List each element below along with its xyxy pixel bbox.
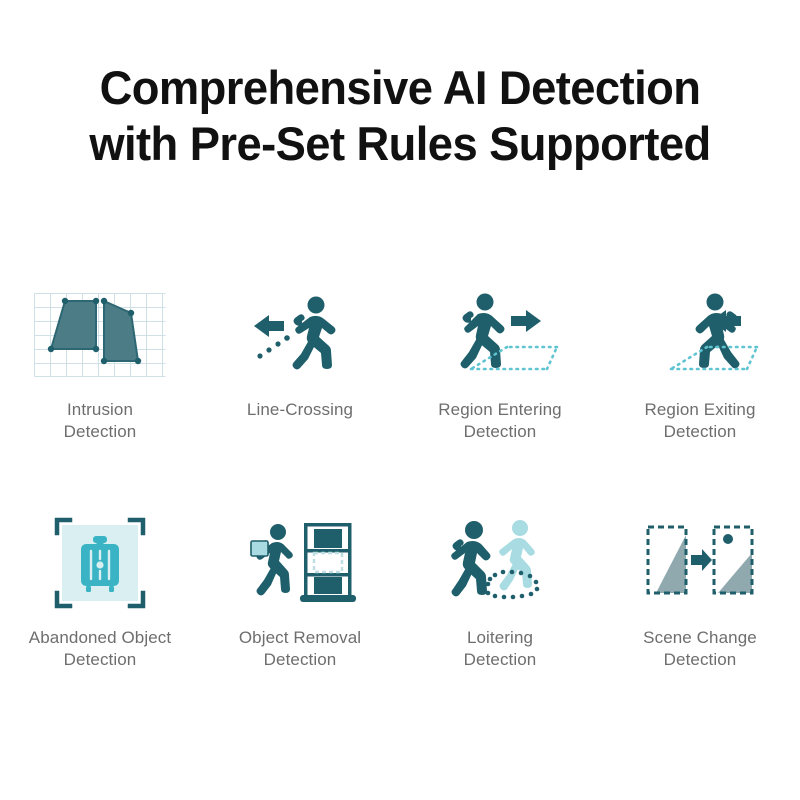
feature-item-scene-change-detection[interactable]: Scene Change Detection	[600, 517, 800, 671]
object-removal-shelf-icon	[230, 517, 370, 609]
headline-heading: Comprehensive AI Detection with Pre-Set …	[33, 60, 766, 173]
abandoned-suitcase-bracket-icon	[30, 517, 170, 609]
intrusion-polygons-grid-icon	[30, 289, 170, 381]
feature-item-region-entering-detection[interactable]: Region Entering Detection	[400, 289, 600, 443]
feature-row-1: Intrusion Detection	[0, 289, 800, 443]
feature-item-abandoned-object-detection[interactable]: Abandoned Object Detection	[0, 517, 200, 671]
feature-item-object-removal-detection[interactable]: Object Removal Detection	[200, 517, 400, 671]
feature-item-intrusion-detection[interactable]: Intrusion Detection	[0, 289, 200, 443]
feature-item-line-crossing[interactable]: Line-Crossing	[200, 289, 400, 443]
feature-label: Scene Change Detection	[643, 627, 757, 671]
feature-row-2: Abandoned Object Detection	[0, 517, 800, 671]
feature-showcase-page: Comprehensive AI Detection with Pre-Set …	[0, 0, 800, 800]
feature-label: Region Entering Detection	[438, 399, 561, 443]
region-exiting-person-icon	[630, 289, 770, 381]
feature-item-region-exiting-detection[interactable]: Region Exiting Detection	[600, 289, 800, 443]
loitering-two-figures-icon	[430, 517, 570, 609]
feature-label: Line-Crossing	[247, 399, 353, 421]
region-entering-person-icon	[430, 289, 570, 381]
headline-line-1: Comprehensive AI Detection	[33, 60, 766, 116]
feature-label: Abandoned Object Detection	[29, 627, 171, 671]
line-crossing-person-arrow-icon	[230, 289, 370, 381]
feature-label: Loitering Detection	[464, 627, 537, 671]
feature-label: Intrusion Detection	[64, 399, 137, 443]
scene-change-frames-arrow-icon	[630, 517, 770, 609]
feature-label: Region Exiting Detection	[644, 399, 755, 443]
feature-grid: Intrusion Detection	[0, 173, 800, 800]
page-title: Comprehensive AI Detection with Pre-Set …	[0, 0, 800, 173]
feature-item-loitering-detection[interactable]: Loitering Detection	[400, 517, 600, 671]
headline-line-2: with Pre-Set Rules Supported	[33, 116, 766, 172]
feature-label: Object Removal Detection	[239, 627, 361, 671]
